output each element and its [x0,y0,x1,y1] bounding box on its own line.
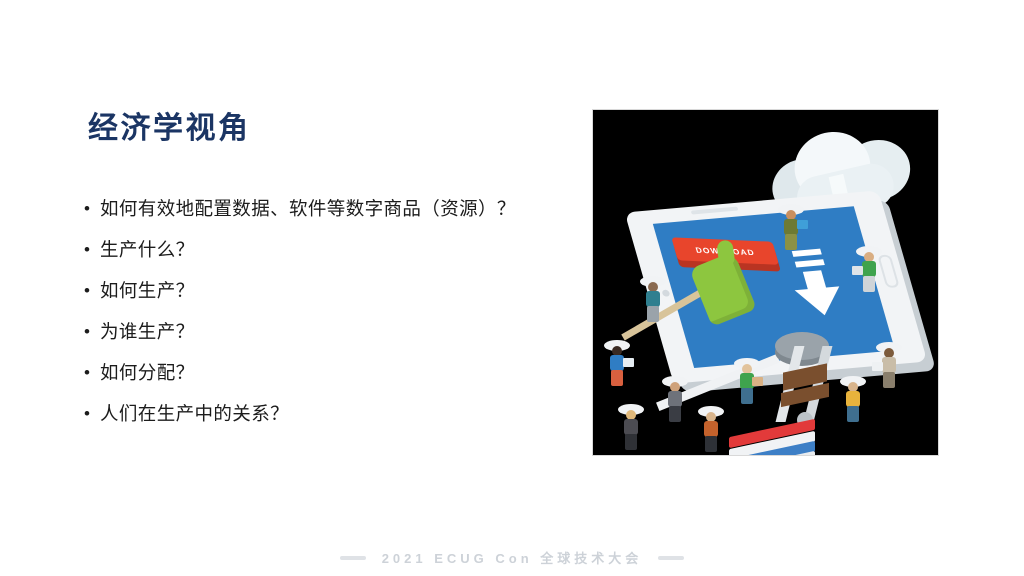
list-item: • 人们在生产中的关系？ [84,401,584,442]
person-torso [668,391,682,407]
list-item: • 如何生产？ [84,278,584,319]
arrow-bar [792,249,822,257]
list-item: • 如何有效地配置数据、软件等数字商品（资源）？ [84,196,584,237]
arrow-bar [795,259,825,267]
list-item-label: 为谁生产？ [100,319,584,345]
bullet-marker-icon: • [84,360,100,386]
person-legs [785,234,797,250]
person-legs [741,388,753,404]
person-torso [704,421,718,437]
footer-rule-left [340,556,366,560]
arrow-head [795,286,847,317]
person-laptop-item [852,266,863,275]
list-item-label: 如何有效地配置数据、软件等数字商品（资源）？ [100,196,584,222]
person-torso [846,391,860,407]
person-legs [669,406,681,422]
person-legs [847,406,859,422]
person-legs [883,372,895,388]
person-tablet-item [623,358,634,367]
tablet-speaker [691,207,739,215]
person-torso [610,355,624,371]
hand-truck [769,342,843,428]
person-torso [624,419,638,435]
list-item-label: 如何生产？ [100,278,584,304]
list-item-label: 生产什么？ [100,237,584,263]
slide-footer: 2021 ECUG Con 全球技术大会 [0,548,1024,567]
person-legs [863,276,875,292]
bullet-marker-icon: • [84,401,100,427]
tablet-camera-icon [661,290,670,297]
list-item-label: 如何分配？ [100,360,584,386]
person-legs [647,306,659,322]
bullet-marker-icon: • [84,237,100,263]
illustration-stage: DOWNLOAD [593,110,938,455]
list-item: • 如何分配？ [84,360,584,401]
footer-rule-right [658,556,684,560]
page-title: 经济学视角 [88,112,251,147]
slide-canvas: 经济学视角 • 如何有效地配置数据、软件等数字商品（资源）？ • 生产什么？ •… [0,0,1024,576]
person-torso [784,219,798,235]
person-books-item [752,377,763,386]
illustration-image: DOWNLOAD [593,110,938,455]
book-stack [729,428,821,455]
list-item: • 生产什么？ [84,237,584,278]
bullet-marker-icon: • [84,196,100,222]
footer-label: 2021 ECUG Con 全球技术大会 [382,548,643,567]
person-legs [705,436,717,452]
bullet-list: • 如何有效地配置数据、软件等数字商品（资源）？ • 生产什么？ • 如何生产？… [84,196,584,442]
list-item: • 为谁生产？ [84,319,584,360]
person-laptop-item [872,362,883,371]
person-torso [862,261,876,277]
person-torso [882,357,896,373]
person-torso [646,291,660,307]
person-legs [625,434,637,450]
person-tablet-item [797,220,808,229]
download-arrow-icon [784,248,848,319]
bullet-marker-icon: • [84,319,100,345]
bullet-marker-icon: • [84,278,100,304]
person-legs [611,370,623,386]
list-item-label: 人们在生产中的关系？ [100,401,584,427]
tablet-home-button [877,254,900,288]
